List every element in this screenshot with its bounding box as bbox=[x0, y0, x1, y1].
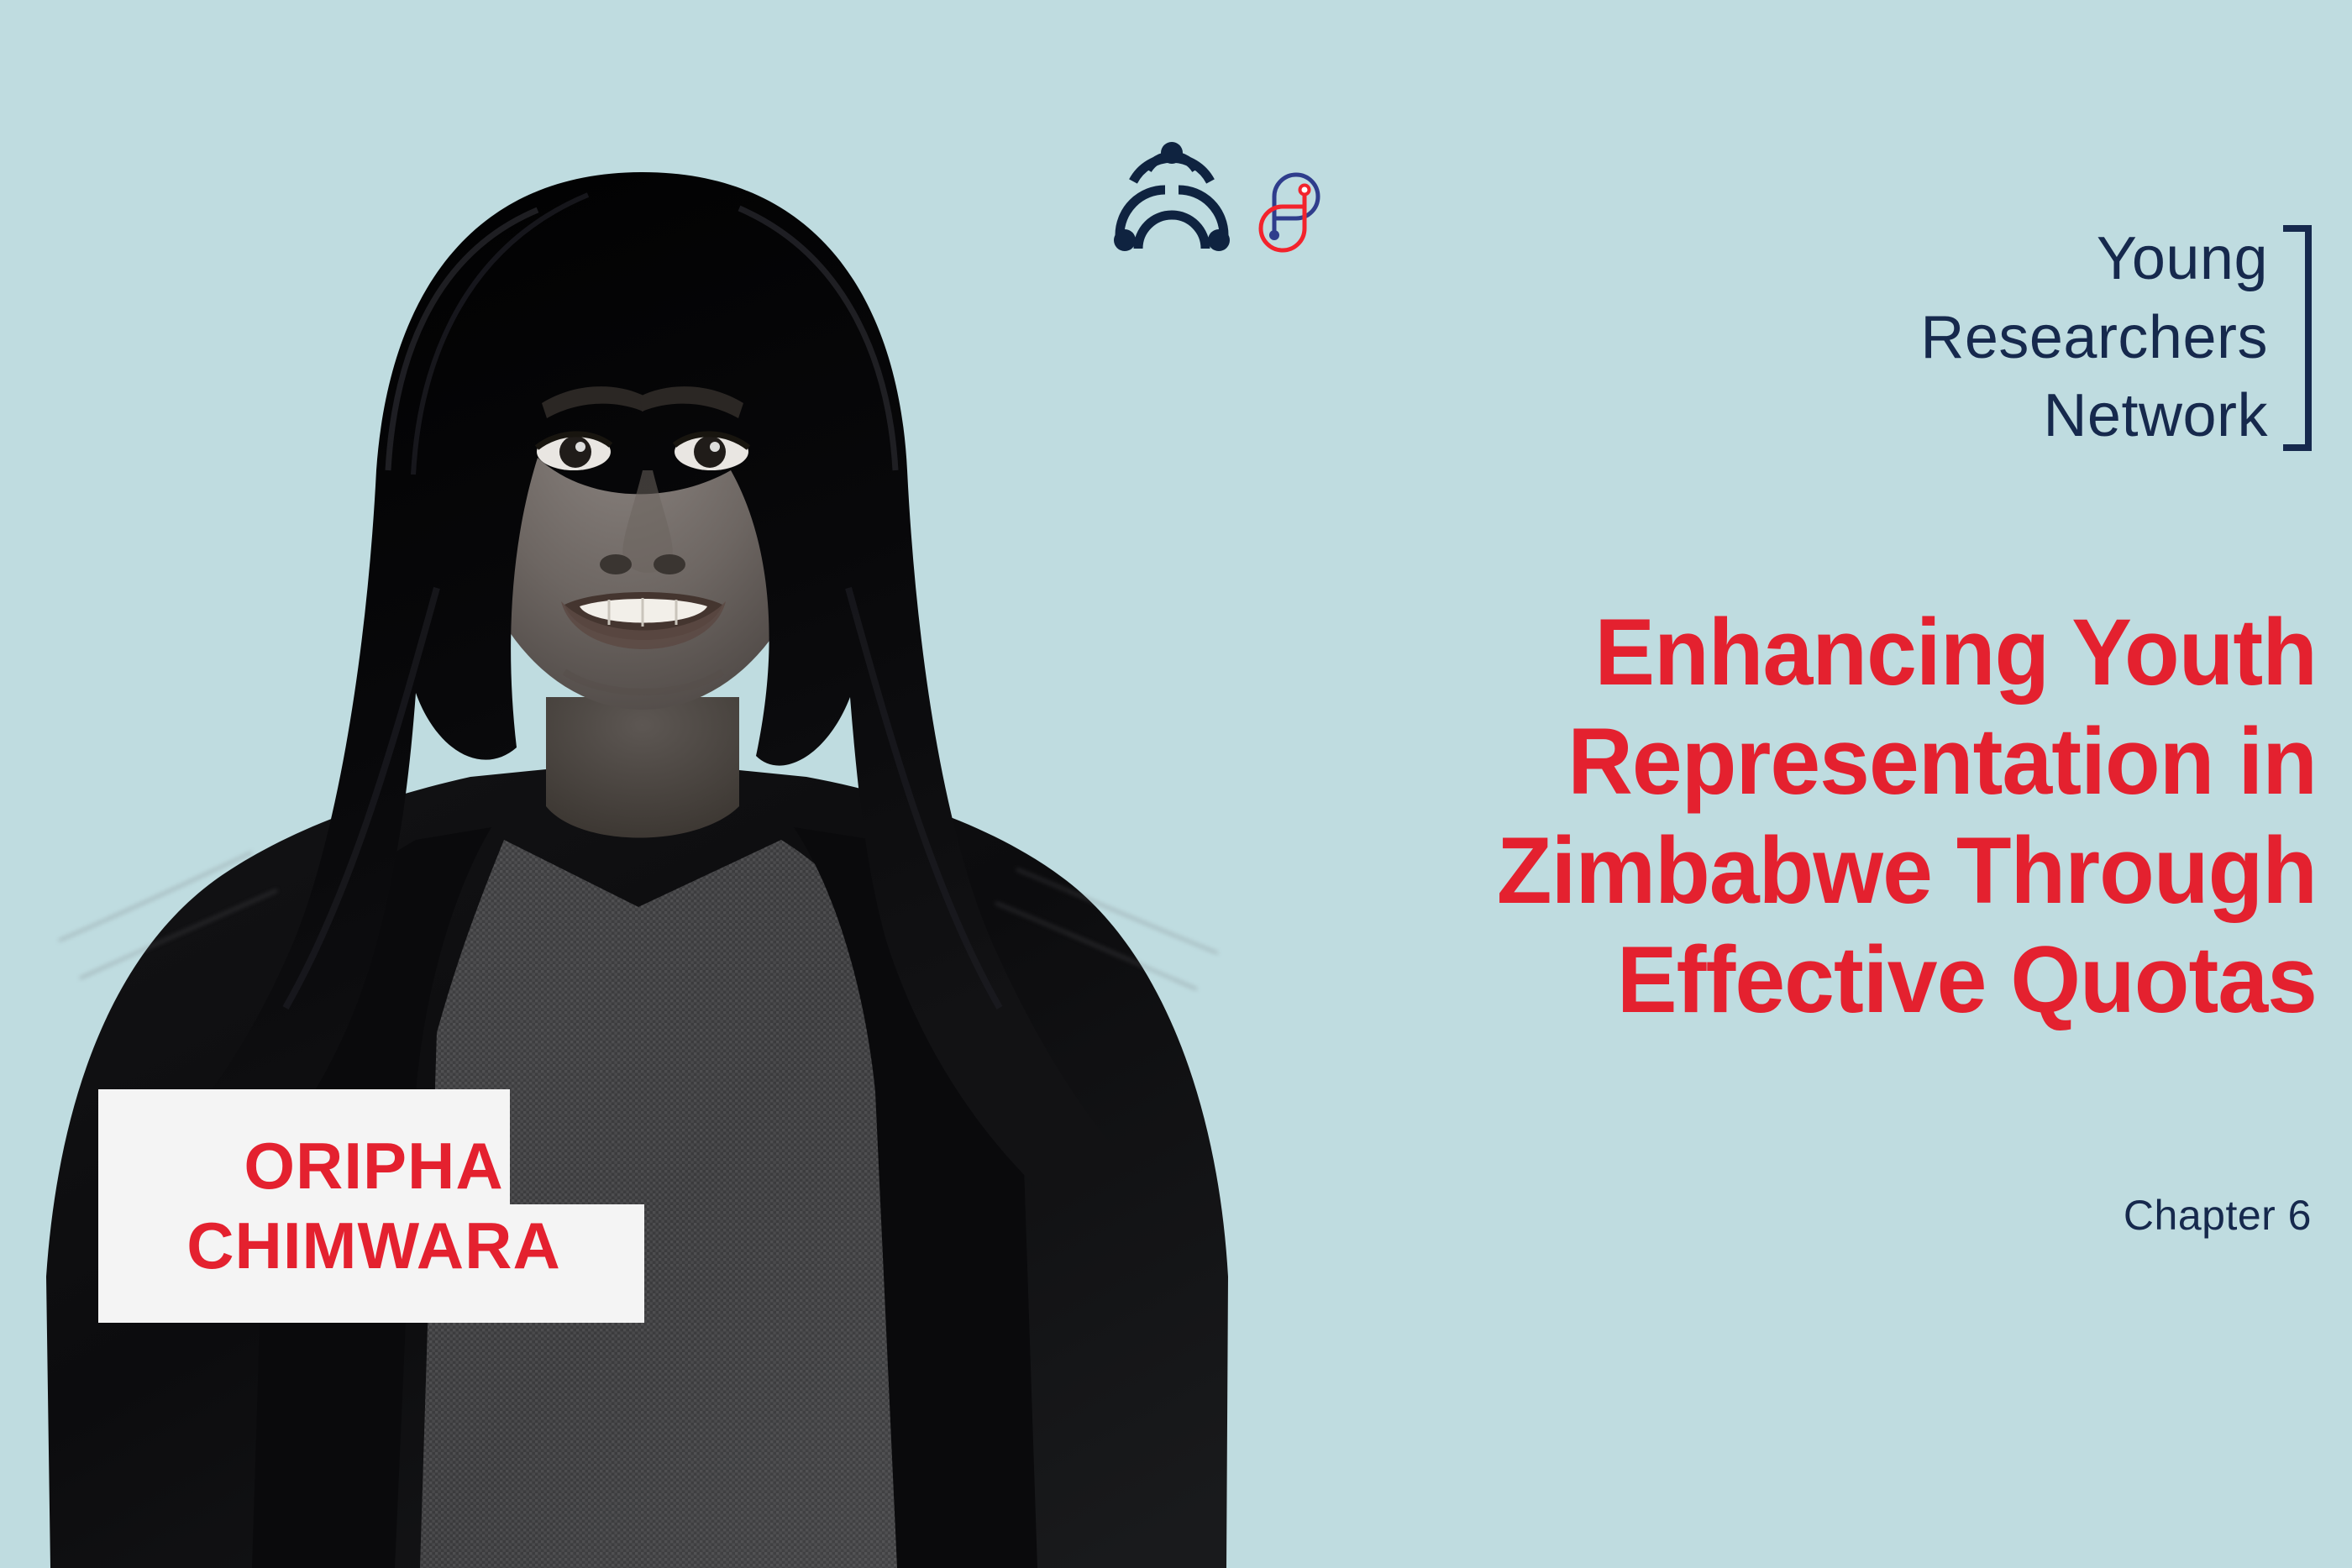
title-line-1: Enhancing Youth bbox=[897, 598, 2317, 707]
speaker-last-name: CHIMWARA bbox=[186, 1206, 561, 1286]
chapter-label: Chapter 6 bbox=[2124, 1191, 2312, 1240]
brand-line-3: Network bbox=[1920, 377, 2268, 456]
interlocked-p-monogram-icon bbox=[1256, 161, 1328, 264]
title-line-3: Zimbabwe Through bbox=[897, 816, 2317, 926]
logo-row bbox=[1113, 141, 1328, 264]
brand-line-2: Researchers bbox=[1920, 299, 2268, 378]
brand-name-lines: Young Researchers Network bbox=[1920, 217, 2268, 456]
nameplate-text: ORIPHA CHIMWARA bbox=[98, 1089, 644, 1323]
title-line-4: Effective Quotas bbox=[897, 926, 2317, 1035]
brand-bracket-icon bbox=[2283, 225, 2312, 451]
brand-lockup: Young Researchers Network bbox=[1920, 217, 2312, 456]
page-title: Enhancing Youth Representation in Zimbab… bbox=[897, 598, 2317, 1035]
speaker-nameplate: ORIPHA CHIMWARA bbox=[98, 1089, 644, 1323]
people-community-icon bbox=[1113, 141, 1231, 259]
title-line-2: Representation in bbox=[897, 707, 2317, 816]
presentation-slide: ORIPHA CHIMWARA bbox=[0, 0, 2352, 1568]
speaker-first-name: ORIPHA bbox=[244, 1126, 503, 1206]
brand-line-1: Young bbox=[1920, 220, 2268, 299]
